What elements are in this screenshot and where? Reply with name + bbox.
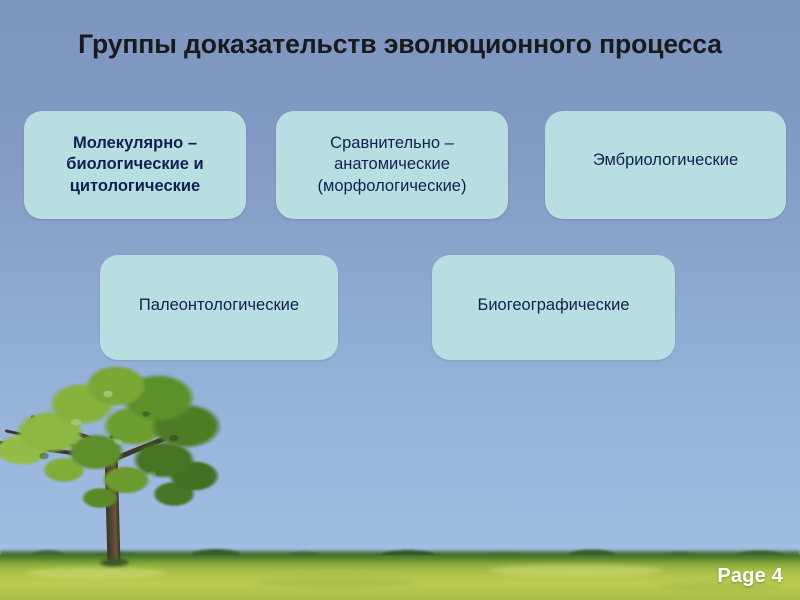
evidence-box-paleontological[interactable]: Палеонтологические [100, 255, 338, 360]
evidence-box-label: Эмбриологические [583, 150, 748, 171]
slide-title: Группы доказательств эволюционного проце… [70, 28, 730, 62]
slide-canvas: Группы доказательств эволюционного проце… [0, 0, 800, 600]
evidence-box-label: Сравнительно – анатомические (морфологич… [308, 133, 477, 197]
page-number: Page 4 [717, 565, 783, 588]
evidence-box-comparative-anatomical-morphological[interactable]: Сравнительно – анатомические (морфологич… [276, 111, 508, 219]
evidence-box-label: Молекулярно – биологические и цитологиче… [56, 133, 213, 197]
evidence-box-label: Палеонтологические [129, 295, 309, 316]
landscape-photo [0, 350, 800, 600]
tree-illustration [0, 364, 228, 564]
evidence-box-biogeographical[interactable]: Биогеографические [432, 255, 675, 360]
evidence-box-molecular-biological-cytological[interactable]: Молекулярно – биологические и цитологиче… [24, 111, 246, 219]
tree-canopy-texture [0, 364, 228, 514]
evidence-box-embryological[interactable]: Эмбриологические [545, 111, 786, 219]
evidence-box-label: Биогеографические [467, 295, 639, 316]
